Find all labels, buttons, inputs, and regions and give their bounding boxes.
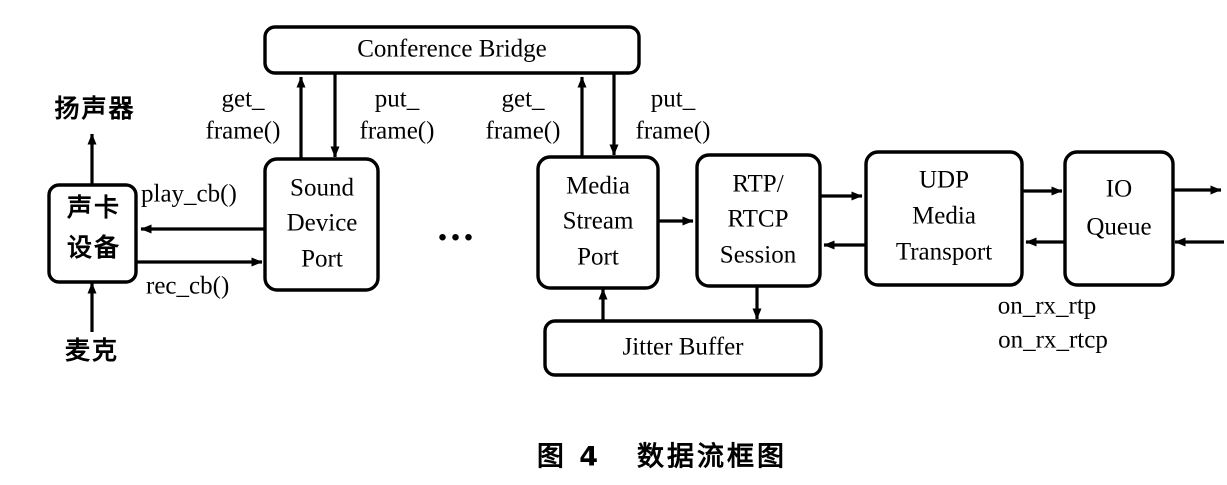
node-conference-bridge[interactable]: Conference Bridge — [265, 27, 639, 73]
put-frame-media-label-line2: frame() — [636, 118, 711, 145]
sound-card-device-label-line2: 设备 — [67, 233, 121, 262]
udp-media-transport-label-line1: UDP — [919, 167, 969, 194]
on-rx-rtcp-label: on_rx_rtcp — [998, 327, 1108, 354]
dataflow-diagram: Conference Bridge 声卡 设备 Sound Device Por… — [0, 0, 1227, 485]
ellipsis-more-ports: ... — [438, 204, 477, 249]
node-rtp-rtcp-session[interactable]: RTP/ RTCP Session — [697, 155, 820, 286]
on-rx-rtp-label: on_rx_rtp — [998, 293, 1097, 320]
node-media-stream-port[interactable]: Media Stream Port — [538, 157, 658, 288]
diagram-canvas: Conference Bridge 声卡 设备 Sound Device Por… — [0, 0, 1227, 485]
sound-card-device-label-line1: 声卡 — [67, 193, 121, 222]
put-frame-media-label-line1: put_ — [651, 86, 696, 113]
node-io-queue[interactable]: IO Queue — [1065, 152, 1173, 285]
node-udp-media-transport[interactable]: UDP Media Transport — [866, 152, 1022, 285]
figure-caption-title: 数据流框图 — [637, 442, 787, 473]
rtp-rtcp-session-label-line2: RTCP — [727, 206, 788, 233]
put-frame-sound-label-line2: frame() — [360, 118, 435, 145]
microphone-label: 麦克 — [65, 336, 119, 365]
io-queue-label-line1: IO — [1106, 176, 1132, 203]
rtp-rtcp-session-label-line3: Session — [720, 242, 797, 269]
udp-media-transport-label-line3: Transport — [896, 239, 992, 266]
node-sound-device-port[interactable]: Sound Device Port — [265, 159, 378, 290]
play-cb-label: play_cb() — [141, 181, 237, 208]
udp-media-transport-label-line2: Media — [912, 203, 976, 230]
media-stream-port-label-line3: Port — [577, 244, 619, 271]
speaker-label: 扬声器 — [54, 94, 135, 123]
get-frame-media-label-line2: frame() — [486, 118, 561, 145]
media-stream-port-label-line1: Media — [566, 173, 630, 200]
rtp-rtcp-session-label-line1: RTP/ — [732, 171, 783, 198]
get-frame-sound-label-line1: get_ — [221, 86, 265, 113]
node-jitter-buffer[interactable]: Jitter Buffer — [545, 321, 821, 375]
get-frame-media-label-line1: get_ — [501, 86, 545, 113]
node-sound-card-device[interactable]: 声卡 设备 — [49, 185, 136, 282]
sound-device-port-label-line3: Port — [301, 246, 343, 273]
media-stream-port-label-line2: Stream — [563, 208, 634, 235]
get-frame-sound-label-line2: frame() — [206, 118, 281, 145]
jitter-buffer-label: Jitter Buffer — [622, 334, 744, 361]
io-queue-label-line2: Queue — [1086, 214, 1151, 241]
conference-bridge-label: Conference Bridge — [357, 36, 547, 63]
figure-caption-number: 图 4 — [537, 442, 601, 473]
put-frame-sound-label-line1: put_ — [375, 86, 420, 113]
sound-device-port-label-line1: Sound — [290, 175, 354, 202]
sound-device-port-label-line2: Device — [287, 210, 358, 237]
rec-cb-label: rec_cb() — [146, 273, 229, 300]
